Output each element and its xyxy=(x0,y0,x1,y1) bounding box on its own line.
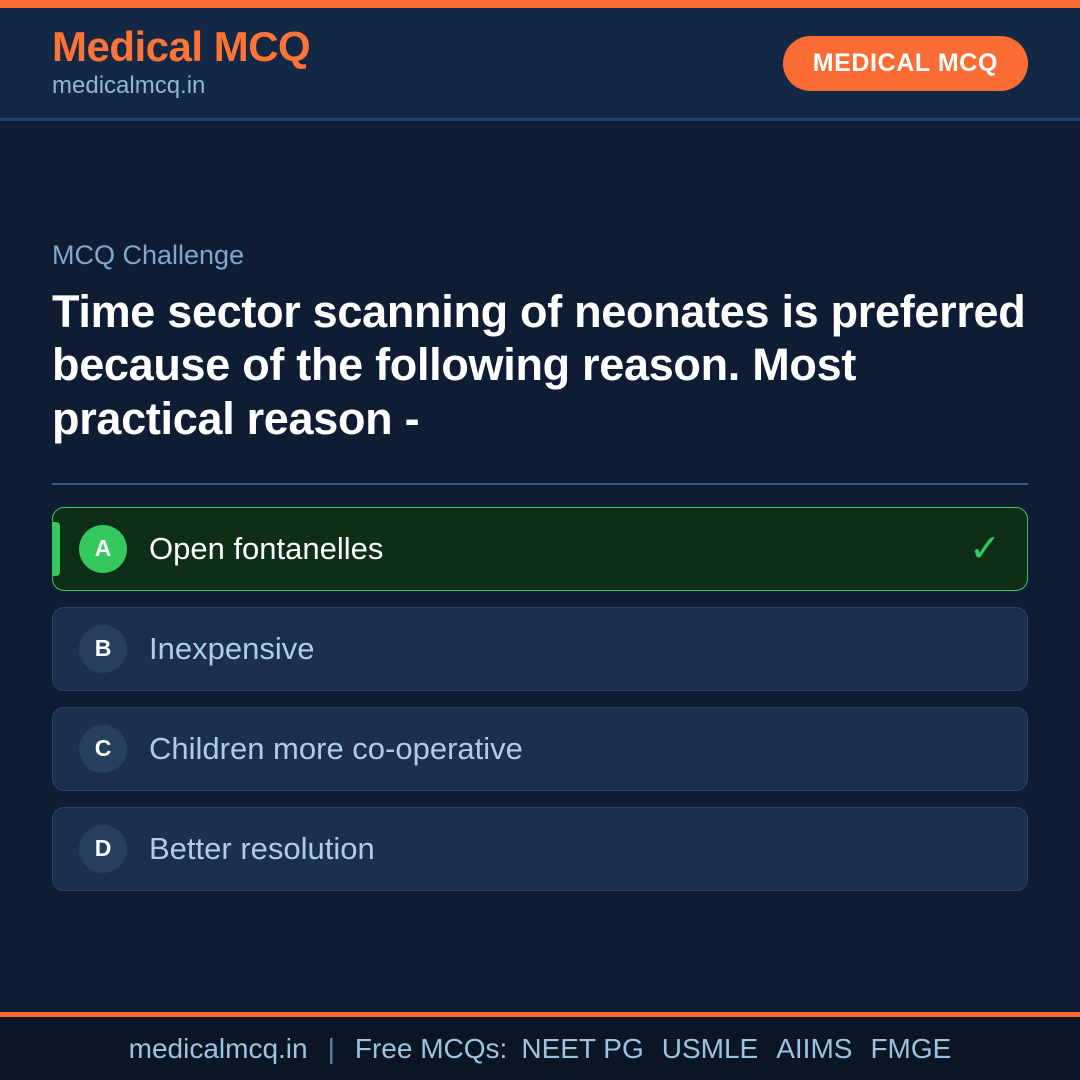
brand-subtitle: medicalmcq.in xyxy=(52,70,310,101)
brand-title: Medical MCQ xyxy=(52,25,310,69)
option-letter-badge: D xyxy=(79,825,127,873)
footer-label: Free MCQs: xyxy=(355,1033,507,1065)
option-letter-badge: B xyxy=(79,625,127,673)
brand: Medical MCQ medicalmcq.in xyxy=(52,25,310,102)
brand-badge: MEDICAL MCQ xyxy=(783,36,1028,91)
option-a[interactable]: A Open fontanelles ✓ xyxy=(52,507,1028,591)
question-divider xyxy=(52,483,1028,485)
eyebrow-label: MCQ Challenge xyxy=(52,239,1028,271)
footer-content: medicalmcq.in | Free MCQs: NEET PG USMLE… xyxy=(129,1033,952,1065)
footer-site: medicalmcq.in xyxy=(129,1033,308,1065)
main-content: MCQ Challenge Time sector scanning of ne… xyxy=(0,121,1080,1012)
option-letter-badge: C xyxy=(79,725,127,773)
option-b[interactable]: B Inexpensive ✓ xyxy=(52,607,1028,691)
correct-accent-bar xyxy=(53,522,60,576)
footer-separator: | xyxy=(322,1033,341,1065)
option-d[interactable]: D Better resolution ✓ xyxy=(52,807,1028,891)
check-icon: ✓ xyxy=(969,530,1001,568)
page-header: Medical MCQ medicalmcq.in MEDICAL MCQ xyxy=(0,8,1080,121)
option-c[interactable]: C Children more co-operative ✓ xyxy=(52,707,1028,791)
footer-exam-list: NEET PG USMLE AIIMS FMGE xyxy=(521,1033,951,1065)
option-label: Children more co-operative xyxy=(149,730,969,767)
footer-exam-usmle: USMLE xyxy=(662,1033,758,1065)
question-text: Time sector scanning of neonates is pref… xyxy=(52,285,1028,444)
options-list: A Open fontanelles ✓ B Inexpensive ✓ C C… xyxy=(52,507,1028,891)
top-accent-bar xyxy=(0,0,1080,8)
mcq-card: Medical MCQ medicalmcq.in MEDICAL MCQ MC… xyxy=(0,0,1080,1080)
option-label: Inexpensive xyxy=(149,630,969,667)
footer-exam-neet-pg: NEET PG xyxy=(521,1033,643,1065)
page-footer: medicalmcq.in | Free MCQs: NEET PG USMLE… xyxy=(0,1012,1080,1080)
option-letter-badge: A xyxy=(79,525,127,573)
option-label: Open fontanelles xyxy=(149,530,969,567)
option-label: Better resolution xyxy=(149,830,969,867)
footer-exam-fmge: FMGE xyxy=(870,1033,951,1065)
footer-exam-aiims: AIIMS xyxy=(776,1033,852,1065)
